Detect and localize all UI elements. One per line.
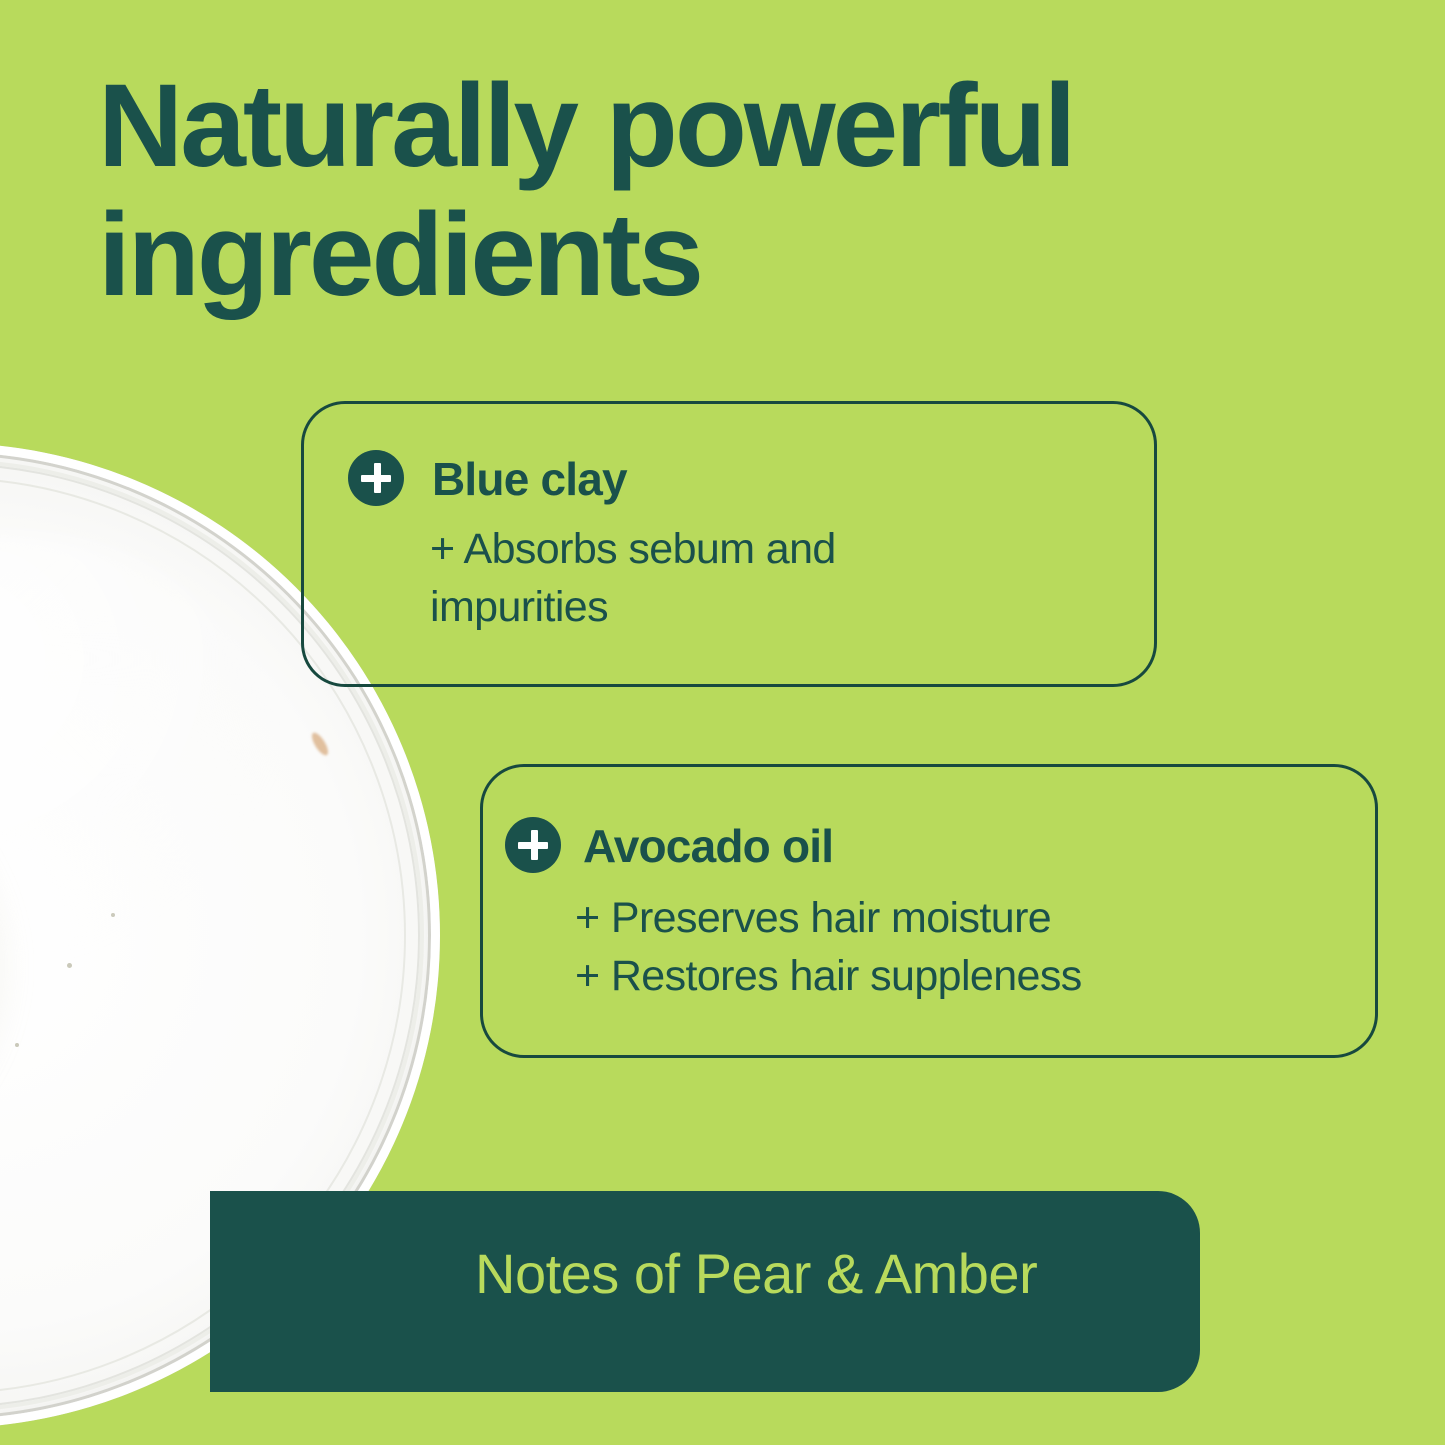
scent-banner-label: Notes of Pear & Amber — [475, 1241, 1037, 1306]
glass-sheen — [0, 533, 275, 953]
powder-speck — [67, 963, 72, 968]
ingredient-infographic: Naturally powerful ingredients Notes of … — [0, 0, 1445, 1445]
ingredient-card-blue-clay: Blue clay + Absorbs sebum and impurities — [301, 401, 1157, 687]
page-title-line-1: Naturally powerful — [98, 62, 1218, 191]
powder-speck — [15, 1043, 19, 1047]
ingredient-benefits-blue-clay: + Absorbs sebum and impurities — [430, 520, 1130, 637]
ingredient-title-avocado-oil: Avocado oil — [583, 819, 833, 873]
ingredient-benefits-avocado-oil: + Preserves hair moisture + Restores hai… — [575, 889, 1375, 1006]
ingredient-title-blue-clay: Blue clay — [432, 452, 627, 506]
plus-icon — [348, 450, 404, 506]
plus-icon — [505, 817, 561, 873]
glass-amber-fleck — [309, 730, 331, 757]
page-title: Naturally powerful ingredients — [98, 62, 1218, 319]
powder-speck — [111, 913, 115, 917]
powder-dust — [0, 733, 13, 1203]
benefit-line: + Preserves hair moisture — [575, 889, 1375, 947]
benefit-line: + Absorbs sebum and — [430, 520, 1130, 578]
benefit-line: impurities — [430, 578, 1130, 636]
ingredient-card-avocado-oil: Avocado oil + Preserves hair moisture + … — [480, 764, 1378, 1058]
scent-banner: Notes of Pear & Amber — [210, 1191, 1200, 1392]
page-title-line-2: ingredients — [98, 191, 1218, 320]
benefit-line: + Restores hair suppleness — [575, 947, 1375, 1005]
